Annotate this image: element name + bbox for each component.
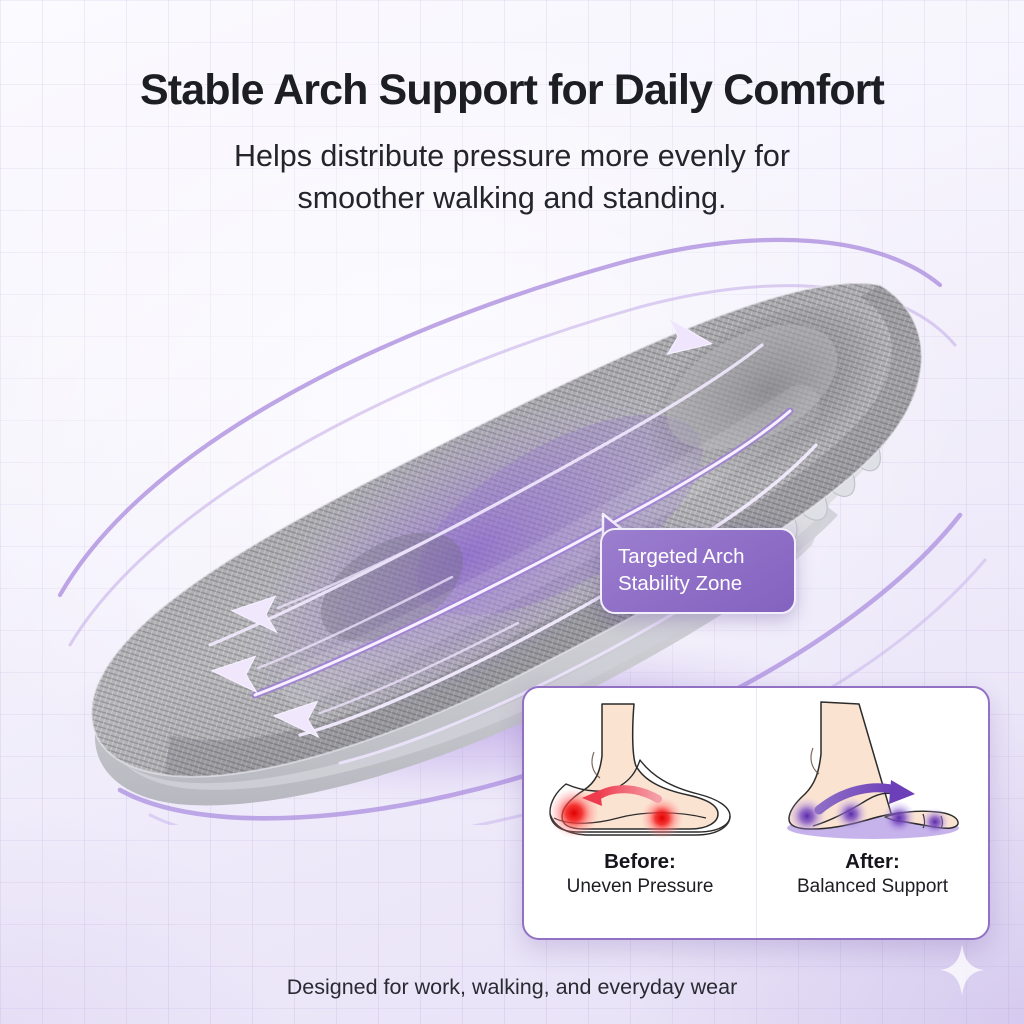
- product-infographic: Stable Arch Support for Daily Comfort He…: [0, 0, 1024, 1024]
- callout-badge[interactable]: Targeted Arch Stability Zone: [600, 528, 796, 614]
- after-pane: After: Balanced Support: [756, 688, 988, 938]
- before-label: Before:: [604, 849, 676, 874]
- page-title: Stable Arch Support for Daily Comfort: [0, 66, 1024, 115]
- footer-note: Designed for work, walking, and everyday…: [0, 975, 1024, 1000]
- before-after-card: Before: Uneven Pressure: [522, 686, 990, 940]
- sparkle-icon: [940, 944, 984, 996]
- before-description: Uneven Pressure: [567, 874, 714, 899]
- after-description: Balanced Support: [797, 874, 948, 899]
- page-subtitle: Helps distribute pressure more evenly fo…: [182, 135, 842, 219]
- after-label: After:: [845, 849, 900, 874]
- callout-line-1: Targeted Arch: [618, 543, 778, 570]
- before-illustration: [540, 698, 740, 848]
- before-pane: Before: Uneven Pressure: [524, 688, 756, 938]
- after-illustration: [773, 698, 973, 848]
- callout-line-2: Stability Zone: [618, 570, 778, 597]
